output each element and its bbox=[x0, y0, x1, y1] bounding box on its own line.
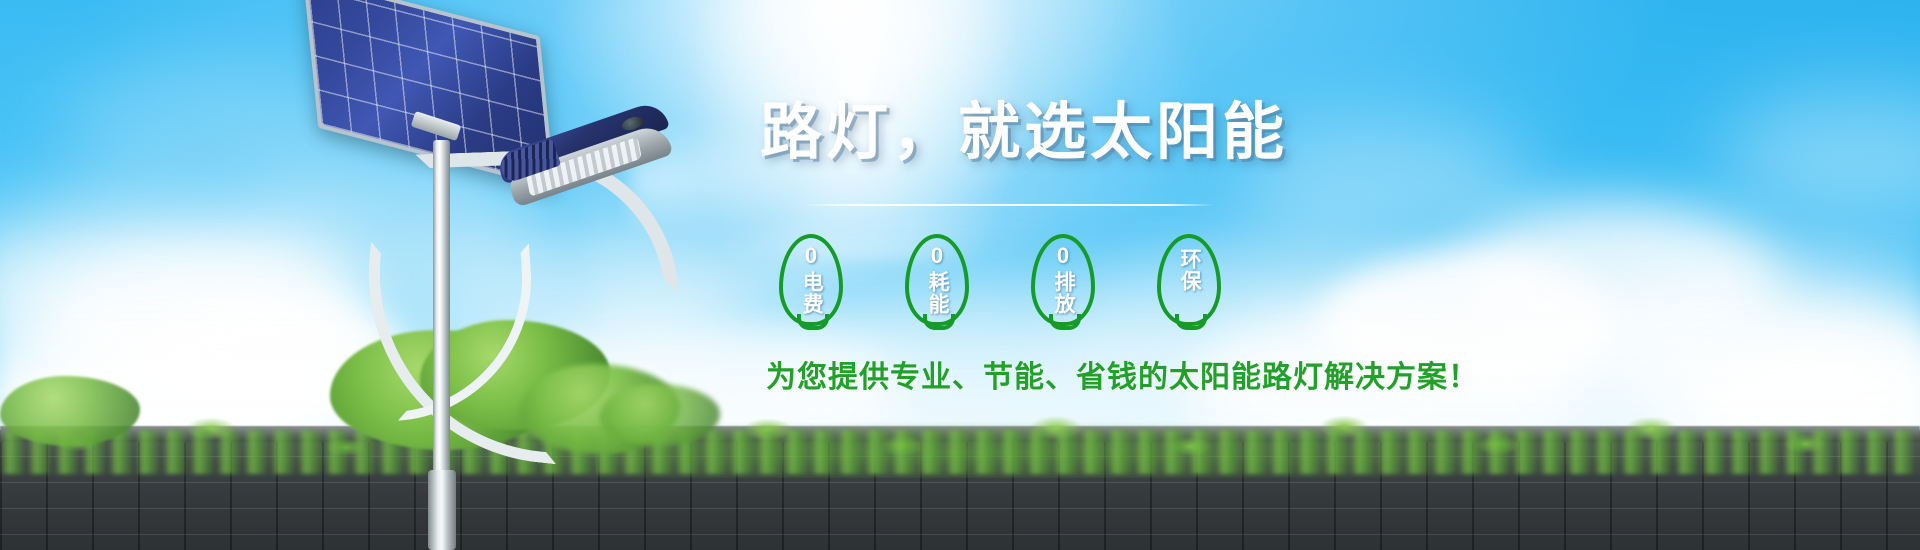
feature-badge-list: 0 电费 0 耗能 0 排放 环保 bbox=[770, 232, 1230, 332]
badge-value: 0 bbox=[805, 245, 817, 267]
feature-badge: 0 耗能 bbox=[896, 232, 978, 332]
subtitle-tagline: 为您提供专业、节能、省钱的太阳能路灯解决方案！ bbox=[766, 360, 1486, 396]
badge-label: 环保 bbox=[1178, 248, 1200, 292]
solar-street-lamp-banner: 路灯，就选太阳能 0 电费 0 耗能 0 排放 环保 bbox=[0, 0, 1920, 550]
badge-label: 电费 bbox=[800, 271, 822, 315]
badge-label: 耗能 bbox=[926, 271, 948, 315]
badge-value: 0 bbox=[931, 245, 943, 267]
page-title: 路灯，就选太阳能 bbox=[760, 100, 1460, 165]
feature-badge: 0 排放 bbox=[1022, 232, 1104, 332]
banner-content: 路灯，就选太阳能 0 电费 0 耗能 0 排放 环保 bbox=[0, 0, 1920, 550]
badge-label: 排放 bbox=[1052, 271, 1074, 315]
badge-value: 0 bbox=[1057, 245, 1069, 267]
feature-badge: 0 电费 bbox=[770, 232, 852, 332]
divider-rule bbox=[802, 204, 1214, 206]
feature-badge: 环保 bbox=[1148, 232, 1230, 332]
